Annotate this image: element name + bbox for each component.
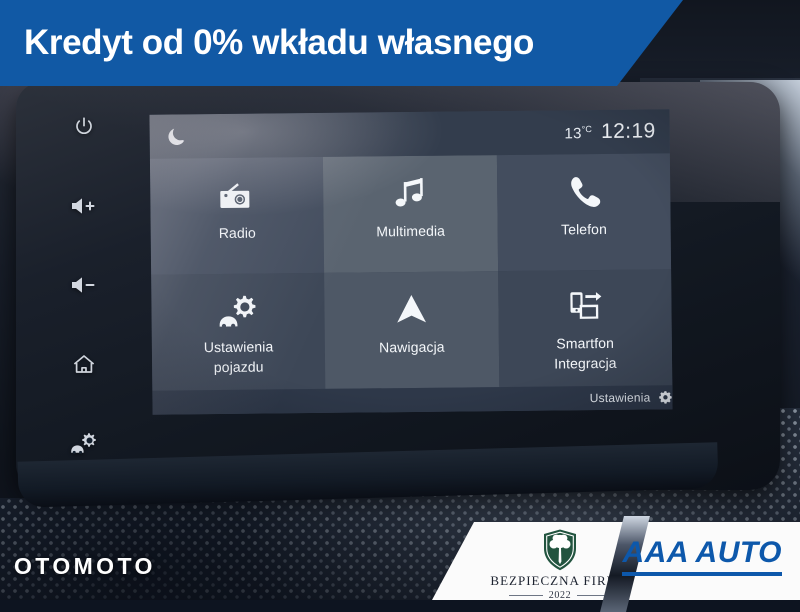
volume-down-button[interactable] xyxy=(64,268,104,302)
home-menu-grid: Radio Multimedia Telefon xyxy=(150,153,672,390)
navigation-arrow-icon xyxy=(392,286,431,336)
music-note-icon xyxy=(392,170,429,220)
tile-label: Multimedia xyxy=(376,224,445,240)
tile-label: Nawigacja xyxy=(379,340,445,356)
car-gear-icon xyxy=(69,431,99,455)
power-button[interactable] xyxy=(64,110,104,144)
volume-up-icon xyxy=(70,196,98,216)
temperature-unit: °C xyxy=(582,124,593,134)
aaa-auto-text: AAA AUTO xyxy=(622,538,782,568)
tile-ustawienia-pojazdu[interactable]: Ustawienia pojazdu xyxy=(151,273,326,391)
phone-handset-icon xyxy=(566,168,601,218)
infotainment-display[interactable]: 13°C 12:19 Radio xyxy=(149,109,672,414)
badge-year: 2022 xyxy=(549,590,571,601)
tile-label: Telefon xyxy=(561,222,607,238)
outside-temperature: 13°C xyxy=(564,124,592,142)
home-icon xyxy=(71,353,97,375)
promo-banner-text: Kredyt od 0% wkładu własnego xyxy=(24,23,534,63)
moon-icon xyxy=(166,125,188,147)
aaa-auto-logo: AAA AUTO xyxy=(622,538,782,576)
tile-radio[interactable]: Radio xyxy=(150,157,325,275)
radio-icon xyxy=(215,172,260,222)
volume-down-icon xyxy=(70,275,98,295)
shield-tree-icon xyxy=(542,528,578,572)
power-icon xyxy=(72,115,96,139)
tile-label-line1: Ustawienia xyxy=(204,339,274,355)
tile-multimedia[interactable]: Multimedia xyxy=(323,155,498,273)
volume-up-button[interactable] xyxy=(64,189,104,223)
tile-label-line2: pojazdu xyxy=(214,359,264,375)
settings-bar-label: Ustawienia xyxy=(590,391,651,406)
status-bar: 13°C 12:19 xyxy=(149,109,669,158)
home-button[interactable] xyxy=(64,347,104,381)
tile-smartfon-integracja[interactable]: Smartfon Integracja xyxy=(498,269,673,387)
clock: 12:19 xyxy=(601,119,656,144)
otomoto-watermark: OTOMOTO xyxy=(14,553,156,580)
badge-rule-left xyxy=(509,595,543,596)
vehicle-settings-button[interactable] xyxy=(64,426,104,460)
hardware-button-column xyxy=(52,110,116,460)
gear-icon[interactable] xyxy=(658,390,672,404)
tile-label-line2: Integracja xyxy=(554,356,617,372)
tile-nawigacja[interactable]: Nawigacja xyxy=(324,271,499,389)
tile-telefon[interactable]: Telefon xyxy=(497,153,672,271)
tile-label: Radio xyxy=(219,226,256,242)
car-gear-icon xyxy=(216,288,261,338)
aaa-auto-underline xyxy=(622,572,782,576)
promo-banner: Kredyt od 0% wkładu własnego xyxy=(0,0,800,86)
status-bar-right: 13°C 12:19 xyxy=(564,119,655,144)
phone-link-icon xyxy=(565,284,606,334)
tile-label-line1: Smartfon xyxy=(556,336,614,352)
badge-year-row: 2022 xyxy=(509,590,611,601)
